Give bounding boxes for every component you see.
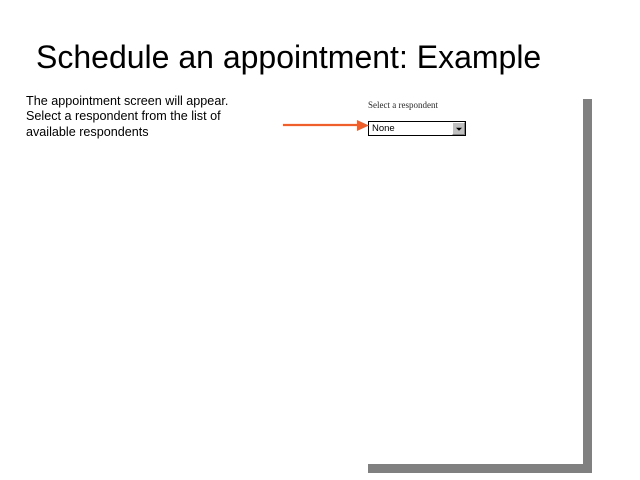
slide-canvas: Schedule an appointment: Example The app… xyxy=(0,0,640,480)
respondent-field-label: Select a respondent xyxy=(368,100,438,111)
respondent-select-value: None xyxy=(369,122,395,135)
callout-arrow-icon xyxy=(283,117,369,134)
embedded-screenshot xyxy=(368,94,584,465)
page-title: Schedule an appointment: Example xyxy=(36,38,616,76)
chevron-down-icon[interactable] xyxy=(452,122,465,135)
screenshot-shadow-bottom xyxy=(368,464,592,473)
screenshot-shadow-right xyxy=(583,99,592,465)
respondent-select[interactable]: None xyxy=(368,121,466,136)
chevron-down-glyph xyxy=(456,127,462,130)
slide-body-text: The appointment screen will appear. Sele… xyxy=(26,94,254,140)
